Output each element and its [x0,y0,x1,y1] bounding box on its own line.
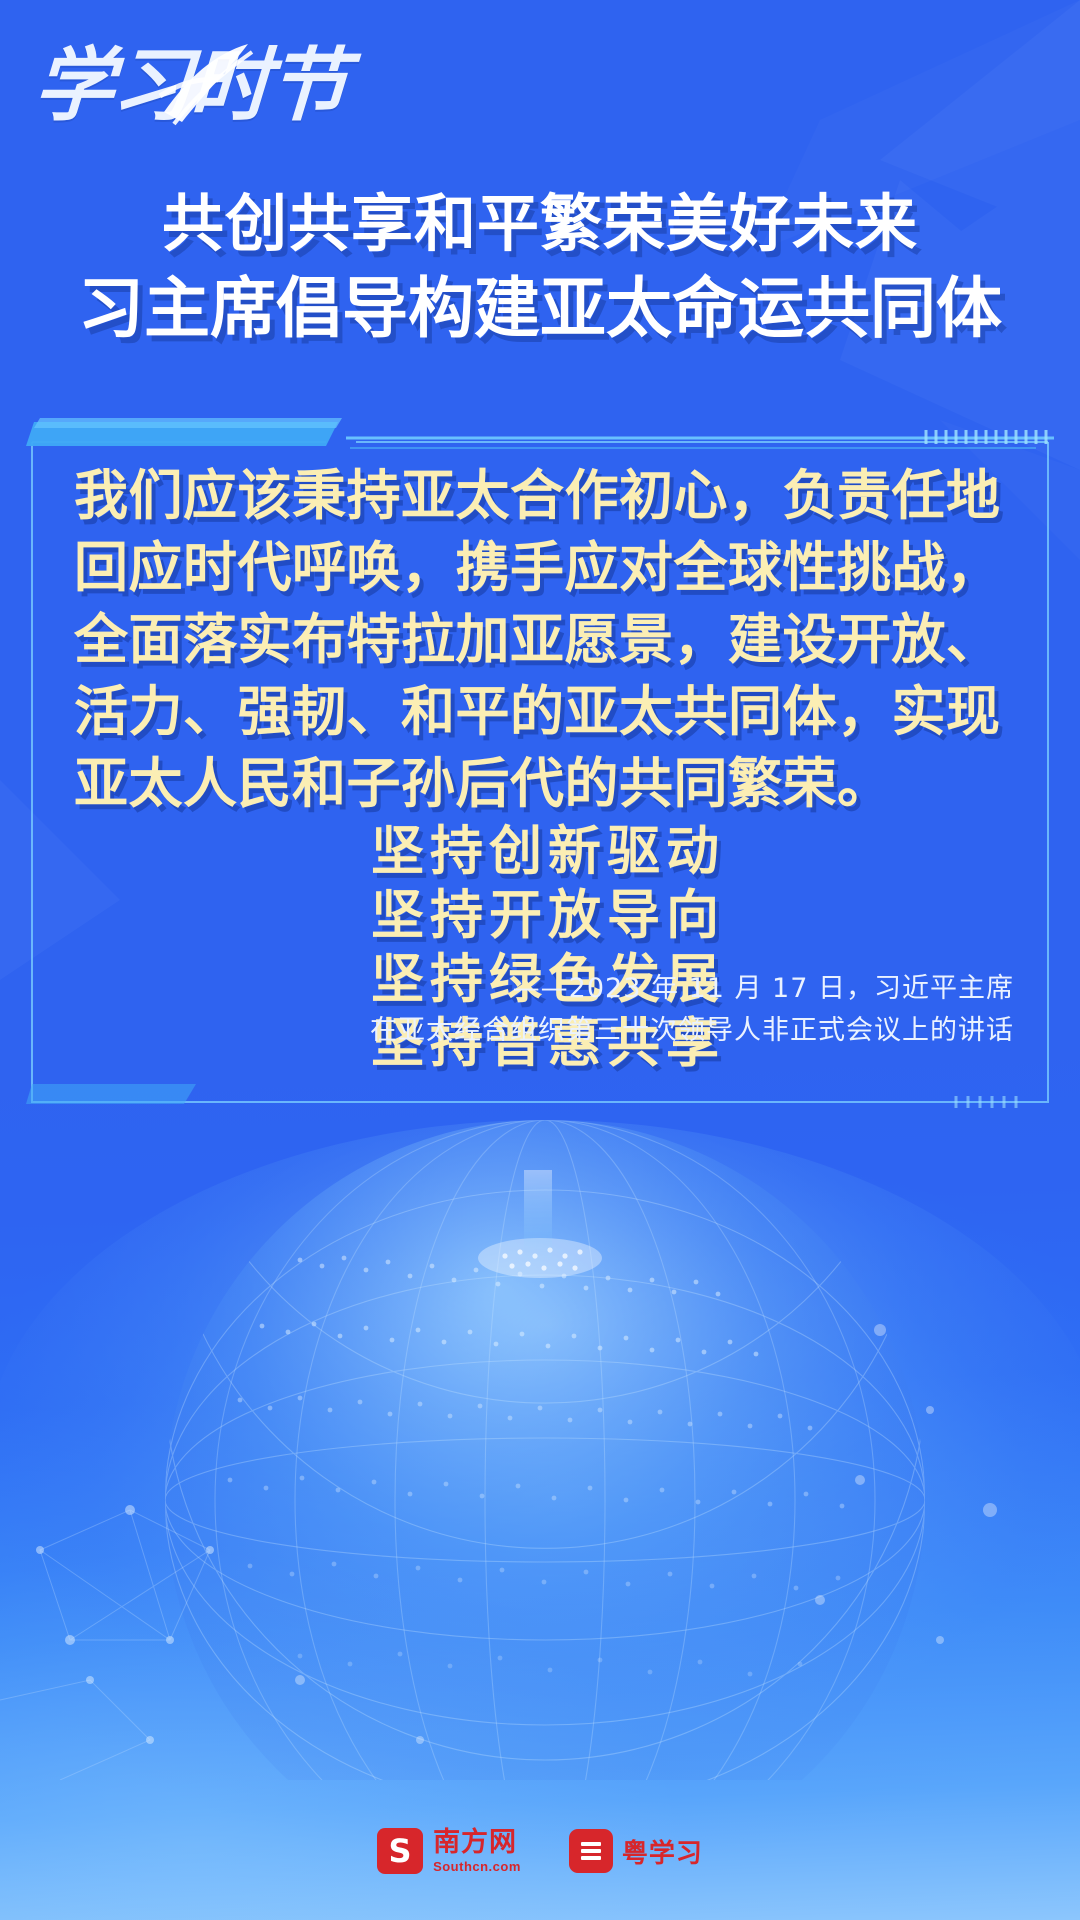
southcn-name-cn: 南方网 [433,1829,521,1856]
southcn-name-en: Southcn.com [433,1860,521,1873]
southcn-logo[interactable]: S 南方网 Southcn.com [377,1828,521,1874]
quote-panel: 我们应该秉持亚太合作初心，负责任地 回应时代呼唤，携手应对全球性挑战， 全面落实… [26,408,1054,1108]
brand-logo-text: 学习时节 [31,34,366,138]
quote-emphasis-line: 坚持开放导向 [74,884,1004,948]
attribution-line-1: ——2023 年 11 月 17 日，习近平主席 [134,968,1014,1010]
yuexuexi-name-cn: 粤学习 [622,1833,703,1870]
quote-emphasis-line: 坚持创新驱动 [74,820,1004,884]
page-title: 共创共享和平繁荣美好未来 习主席倡导构建亚太命运共同体 [0,182,1080,350]
quote-line: 全面落实布特拉加亚愿景，建设开放、 [74,604,1004,676]
title-line-2: 习主席倡导构建亚太命运共同体 [0,266,1080,350]
quote-line: 活力、强韧、和平的亚太共同体，实现 [74,676,1004,748]
southcn-wordmark: 南方网 Southcn.com [433,1829,521,1873]
globe-illustration [0,1080,1080,1780]
title-line-1: 共创共享和平繁荣美好未来 [0,182,1080,266]
quote-line: 回应时代呼唤，携手应对全球性挑战， [74,532,1004,604]
footer-logos: S 南方网 Southcn.com 粤学习 [0,1828,1080,1874]
quote-attribution: ——2023 年 11 月 17 日，习近平主席 在亚太经合组织第三十次领导人非… [134,968,1014,1052]
southcn-mark-icon: S [377,1828,423,1874]
brand-logo: 学习时节 [34,34,364,138]
quote-line: 亚太人民和子孙后代的共同繁荣。 [74,748,1004,820]
poster-root: 学习时节 共创共享和平繁荣美好未来 习主席倡导构建亚太命运共同体 [0,0,1080,1920]
quote-line: 我们应该秉持亚太合作初心，负责任地 [74,460,1004,532]
yue-book-icon [569,1829,613,1873]
yuexuexi-logo[interactable]: 粤学习 [569,1829,703,1873]
attribution-line-2: 在亚太经合组织第三十次领导人非正式会议上的讲话 [134,1010,1014,1052]
